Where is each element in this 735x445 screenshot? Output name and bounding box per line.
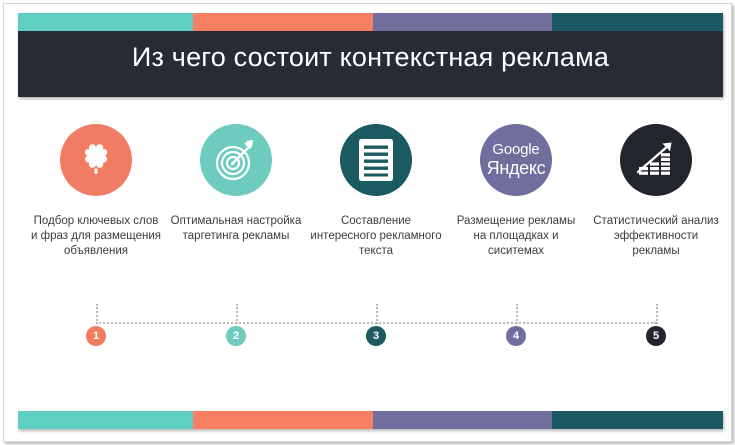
infographic-screenshot: Из чего состоит контекстная реклама Подб… [0, 0, 735, 445]
page-frame: Из чего состоит контекстная реклама Подб… [3, 3, 732, 442]
step-2-caption: Оптимальная настройка таргетинга рекламы [166, 214, 306, 244]
colorbar-segment-purple [373, 13, 553, 31]
step-item-3: Составление интересного рекламного текст… [306, 124, 446, 259]
google-yandex-logo-icon: Google Яндекс [487, 142, 546, 178]
step-number-badge-2: 2 [226, 326, 246, 346]
step-item-1: Подбор ключевых слов и фраз для размещен… [26, 124, 166, 259]
step-number-badge-3: 3 [366, 326, 386, 346]
document-lines-icon [356, 137, 396, 183]
step-number-badge-1: 1 [86, 326, 106, 346]
footer-segment-teal [18, 411, 193, 429]
target-arrow-icon [213, 137, 259, 183]
puzzle-piece-icon [76, 140, 116, 180]
step-number-badge-5: 5 [646, 326, 666, 346]
google-logo-text: Google [487, 142, 546, 158]
step-item-2: Оптимальная настройка таргетинга рекламы [166, 124, 306, 244]
step-1-icon-circle [60, 124, 132, 196]
step-4-caption: Размещение рекламы на площадках и сисите… [446, 214, 586, 259]
timeline-tick-5 [656, 304, 658, 324]
yandex-logo-text: Яндекс [487, 159, 546, 178]
step-5-caption: Статистический анализ эффективности рекл… [586, 214, 726, 259]
step-3-caption: Составление интересного рекламного текст… [306, 214, 446, 259]
step-4-icon-circle: Google Яндекс [480, 124, 552, 196]
colorbar-segment-teal [18, 13, 193, 31]
step-number-badge-4: 4 [506, 326, 526, 346]
page-title: Из чего состоит контекстная реклама [18, 39, 723, 75]
footer-colorbar [18, 411, 723, 429]
timeline-tick-4 [516, 304, 518, 324]
step-item-5: Статистический анализ эффективности рекл… [586, 124, 726, 259]
step-3-icon-circle [340, 124, 412, 196]
footer-segment-purple [373, 411, 553, 429]
footer-segment-dark-teal [552, 411, 723, 429]
step-1-caption: Подбор ключевых слов и фраз для размещен… [26, 214, 166, 259]
timeline: 1 2 3 4 5 [18, 304, 723, 364]
timeline-tick-3 [376, 304, 378, 324]
step-item-4: Google Яндекс Размещение рекламы на площ… [446, 124, 586, 259]
timeline-tick-2 [236, 304, 238, 324]
header-colorbar [18, 13, 723, 31]
step-5-icon-circle [620, 124, 692, 196]
colorbar-segment-dark-teal [552, 13, 723, 31]
colorbar-segment-coral [193, 13, 373, 31]
bar-chart-growth-icon [634, 138, 678, 182]
timeline-tick-1 [96, 304, 98, 324]
footer-segment-coral [193, 411, 373, 429]
step-2-icon-circle [200, 124, 272, 196]
